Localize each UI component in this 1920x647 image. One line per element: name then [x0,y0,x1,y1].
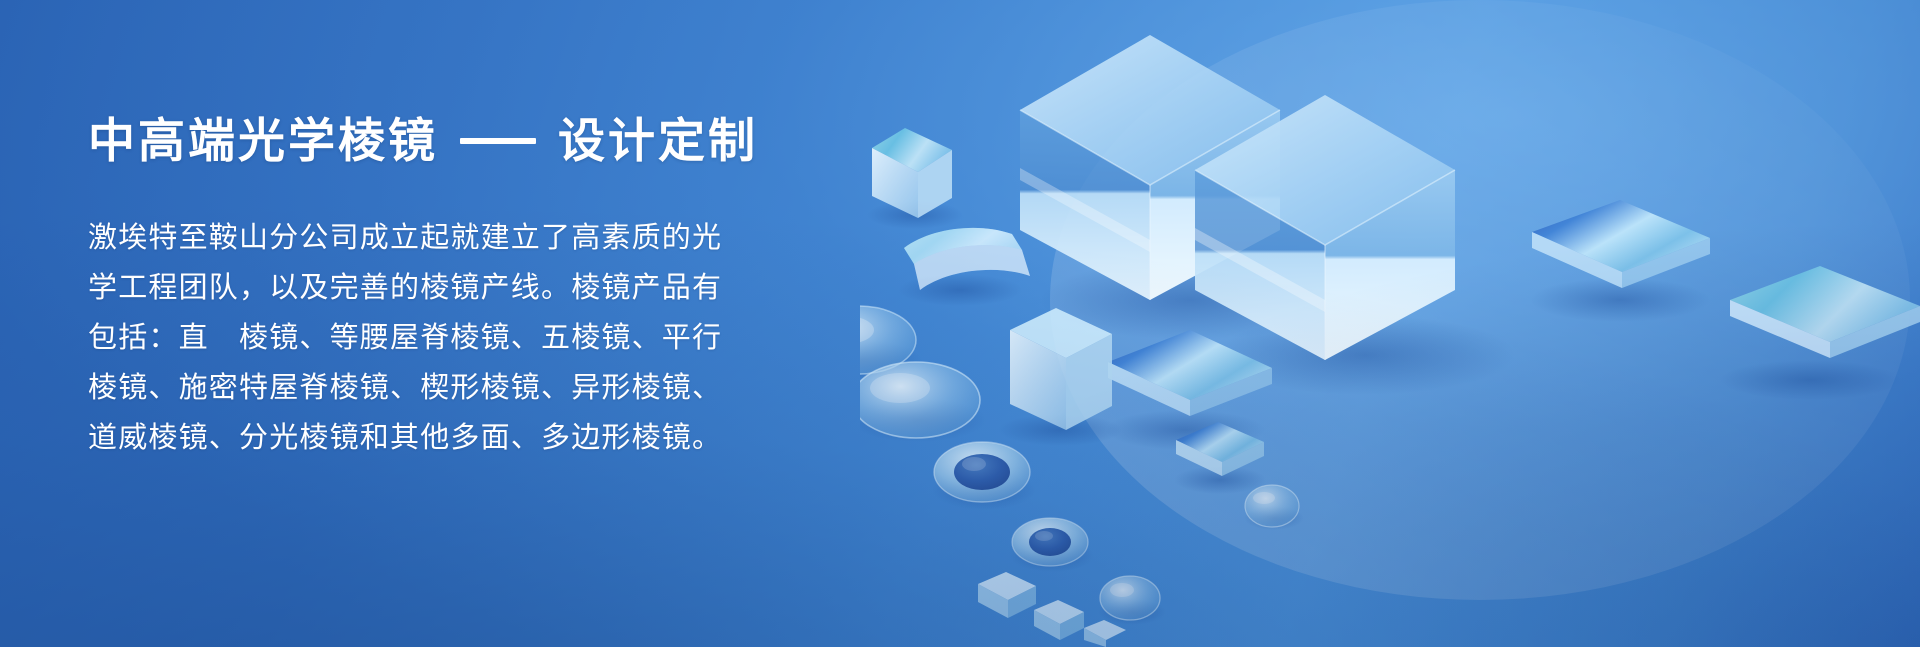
headline-left-text: 中高端光学棱镜 [88,114,438,167]
headline-divider [460,138,536,144]
curved-plate [898,228,1030,306]
paragraph-line: 学工程团队，以及完善的棱镜产线。棱镜产品有 [88,263,848,313]
banner-copy: 中高端光学棱镜设计定制 激埃特至鞍山分公司成立起就建立了高素质的光 学工程团队，… [88,112,848,463]
chip-square-2 [978,572,1036,618]
banner-paragraph: 激埃特至鞍山分公司成立起就建立了高素质的光 学工程团队，以及完善的棱镜产线。棱镜… [88,213,848,463]
product-banner: 中高端光学棱镜设计定制 激埃特至鞍山分公司成立起就建立了高素质的光 学工程团队，… [0,0,1920,647]
optical-prism-artwork [860,0,1920,647]
rectangular-block [867,128,963,229]
paragraph-line: 道威棱镜、分光棱镜和其他多面、多边形棱镜。 [88,413,848,463]
spherical-lens-main [860,362,986,442]
chip-square-3 [1034,600,1084,640]
ring-lens-small [1010,518,1094,572]
ball-lens [1098,576,1166,625]
paragraph-line: 包括：直 棱镜、等腰屋脊棱镜、五棱镜、平行 [88,313,848,363]
paragraph-line: 激埃特至鞍山分公司成立起就建立了高素质的光 [88,213,848,263]
banner-headline: 中高端光学棱镜设计定制 [88,112,848,169]
paragraph-line: 棱镜、施密特屋脊棱镜、楔形棱镜、异形棱镜、 [88,363,848,413]
ring-lens-large [932,442,1036,510]
headline-right-text: 设计定制 [558,114,758,167]
